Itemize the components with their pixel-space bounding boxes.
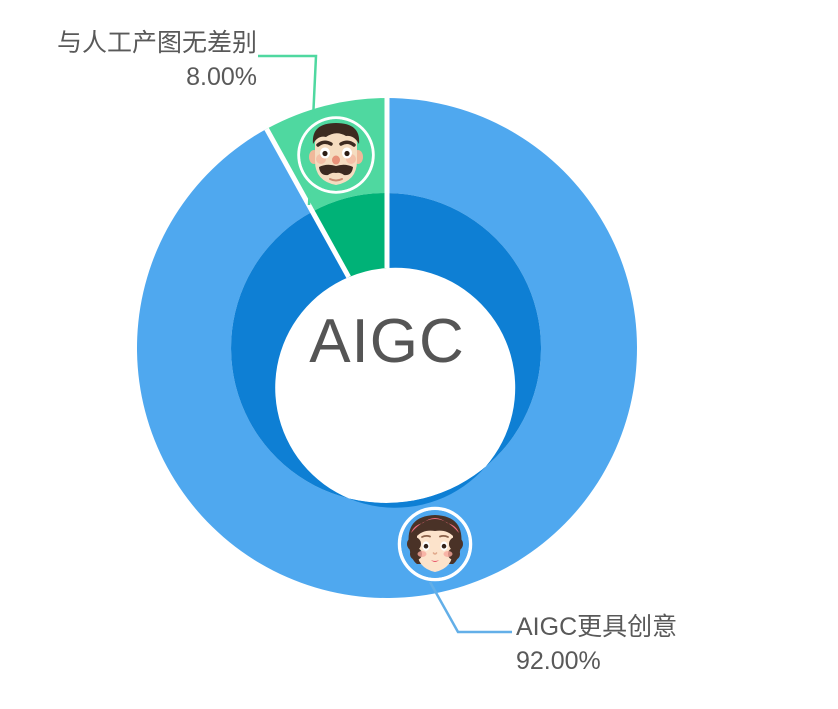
slice-label-green: 与人工产图无差别 8.00% — [22, 26, 257, 94]
man-with-mustache-avatar — [299, 118, 373, 192]
slice-label-blue-percent: 92.00% — [516, 644, 816, 678]
donut-chart: AIGC 与人工产图无差别 8.00% AIGC更具创意 92.00% — [0, 0, 838, 709]
slice-label-blue-name: AIGC更具创意 — [516, 613, 677, 641]
donut-center-label: AIGC — [287, 306, 487, 377]
slice-label-green-name: 与人工产图无差别 — [57, 29, 257, 57]
slice-label-green-percent: 8.00% — [22, 60, 257, 94]
woman-with-headband-avatar — [400, 509, 471, 580]
slice-label-blue: AIGC更具创意 92.00% — [516, 610, 816, 678]
